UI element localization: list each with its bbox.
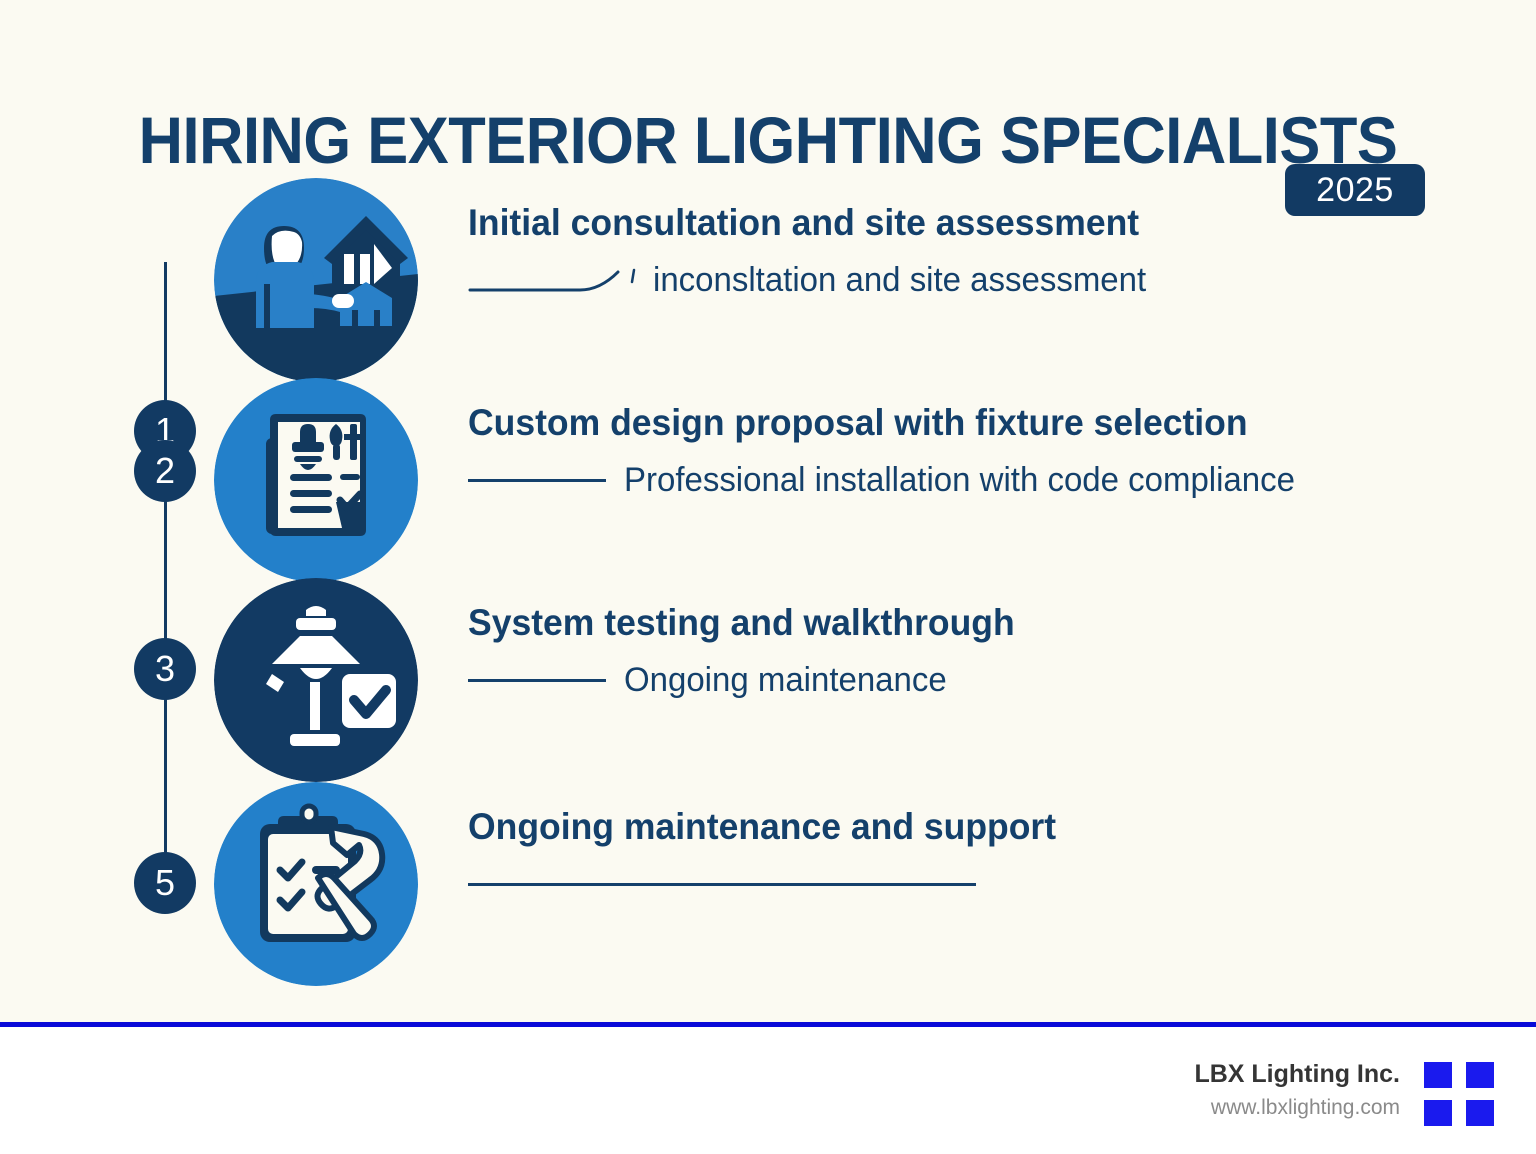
step-text-3: System testing and walkthrough Ongoing m… [468,604,1037,703]
step-number-5: 5 [134,852,196,914]
footer-divider [0,1022,1536,1027]
step-number-3: 3 [134,638,196,700]
step-row-4: 5 Ongoing maintenance and support [0,782,1536,982]
document-proposal-icon [214,378,418,582]
step-row-1: 1 [0,178,1536,378]
step-text-1: Initial consultation and site assessment… [468,204,1167,303]
brand-block: LBX Lighting Inc. www.lbxlighting.com [1194,1059,1400,1122]
company-name: LBX Lighting Inc. [1194,1059,1400,1090]
connector-line-3 [468,679,606,682]
step-heading-1: Initial consultation and site assessment [468,204,1139,243]
step-row-3: 3 System testing and walkthrough Ongoing… [0,578,1536,778]
step-sub-row-4 [468,863,1081,907]
logo-square-4 [1466,1100,1494,1126]
step-heading-3: System testing and walkthrough [468,604,1015,643]
step-sub-row-1: inconsltation and site assessment [468,259,1167,303]
lamp-check-icon [214,578,418,782]
step-sub-row-2: Professional installation with code comp… [468,459,1316,503]
logo-square-1 [1424,1062,1452,1088]
page-title: HIRING EXTERIOR LIGHTING SPECIALISTS [54,102,1482,178]
step-subtext-2: Professional installation with code comp… [624,461,1295,500]
step-subtext-1: inconsltation and site assessment [653,261,1146,300]
step-text-2: Custom design proposal with fixture sele… [468,404,1316,503]
step-text-4: Ongoing maintenance and support [468,808,1081,907]
step-heading-4: Ongoing maintenance and support [468,808,1056,847]
logo-square-3 [1424,1100,1452,1126]
step-row-2: 2 [0,378,1536,578]
logo-square-2 [1466,1062,1494,1088]
clipboard-tools-icon [214,782,418,986]
step-sub-row-3: Ongoing maintenance [468,659,1037,703]
step-heading-2: Custom design proposal with fixture sele… [468,404,1282,443]
infographic-poster: HIRING EXTERIOR LIGHTING SPECIALISTS 202… [0,0,1536,1154]
connector-line-2 [468,479,606,482]
step-subtext-3: Ongoing maintenance [624,661,947,700]
connector-line-4 [468,883,976,886]
step-number-2: 2 [134,440,196,502]
company-website: www.lbxlighting.com [1194,1094,1400,1121]
four-squares-logo [1424,1062,1498,1128]
person-and-house-icon [214,178,418,382]
connector-line-1 [468,266,643,296]
